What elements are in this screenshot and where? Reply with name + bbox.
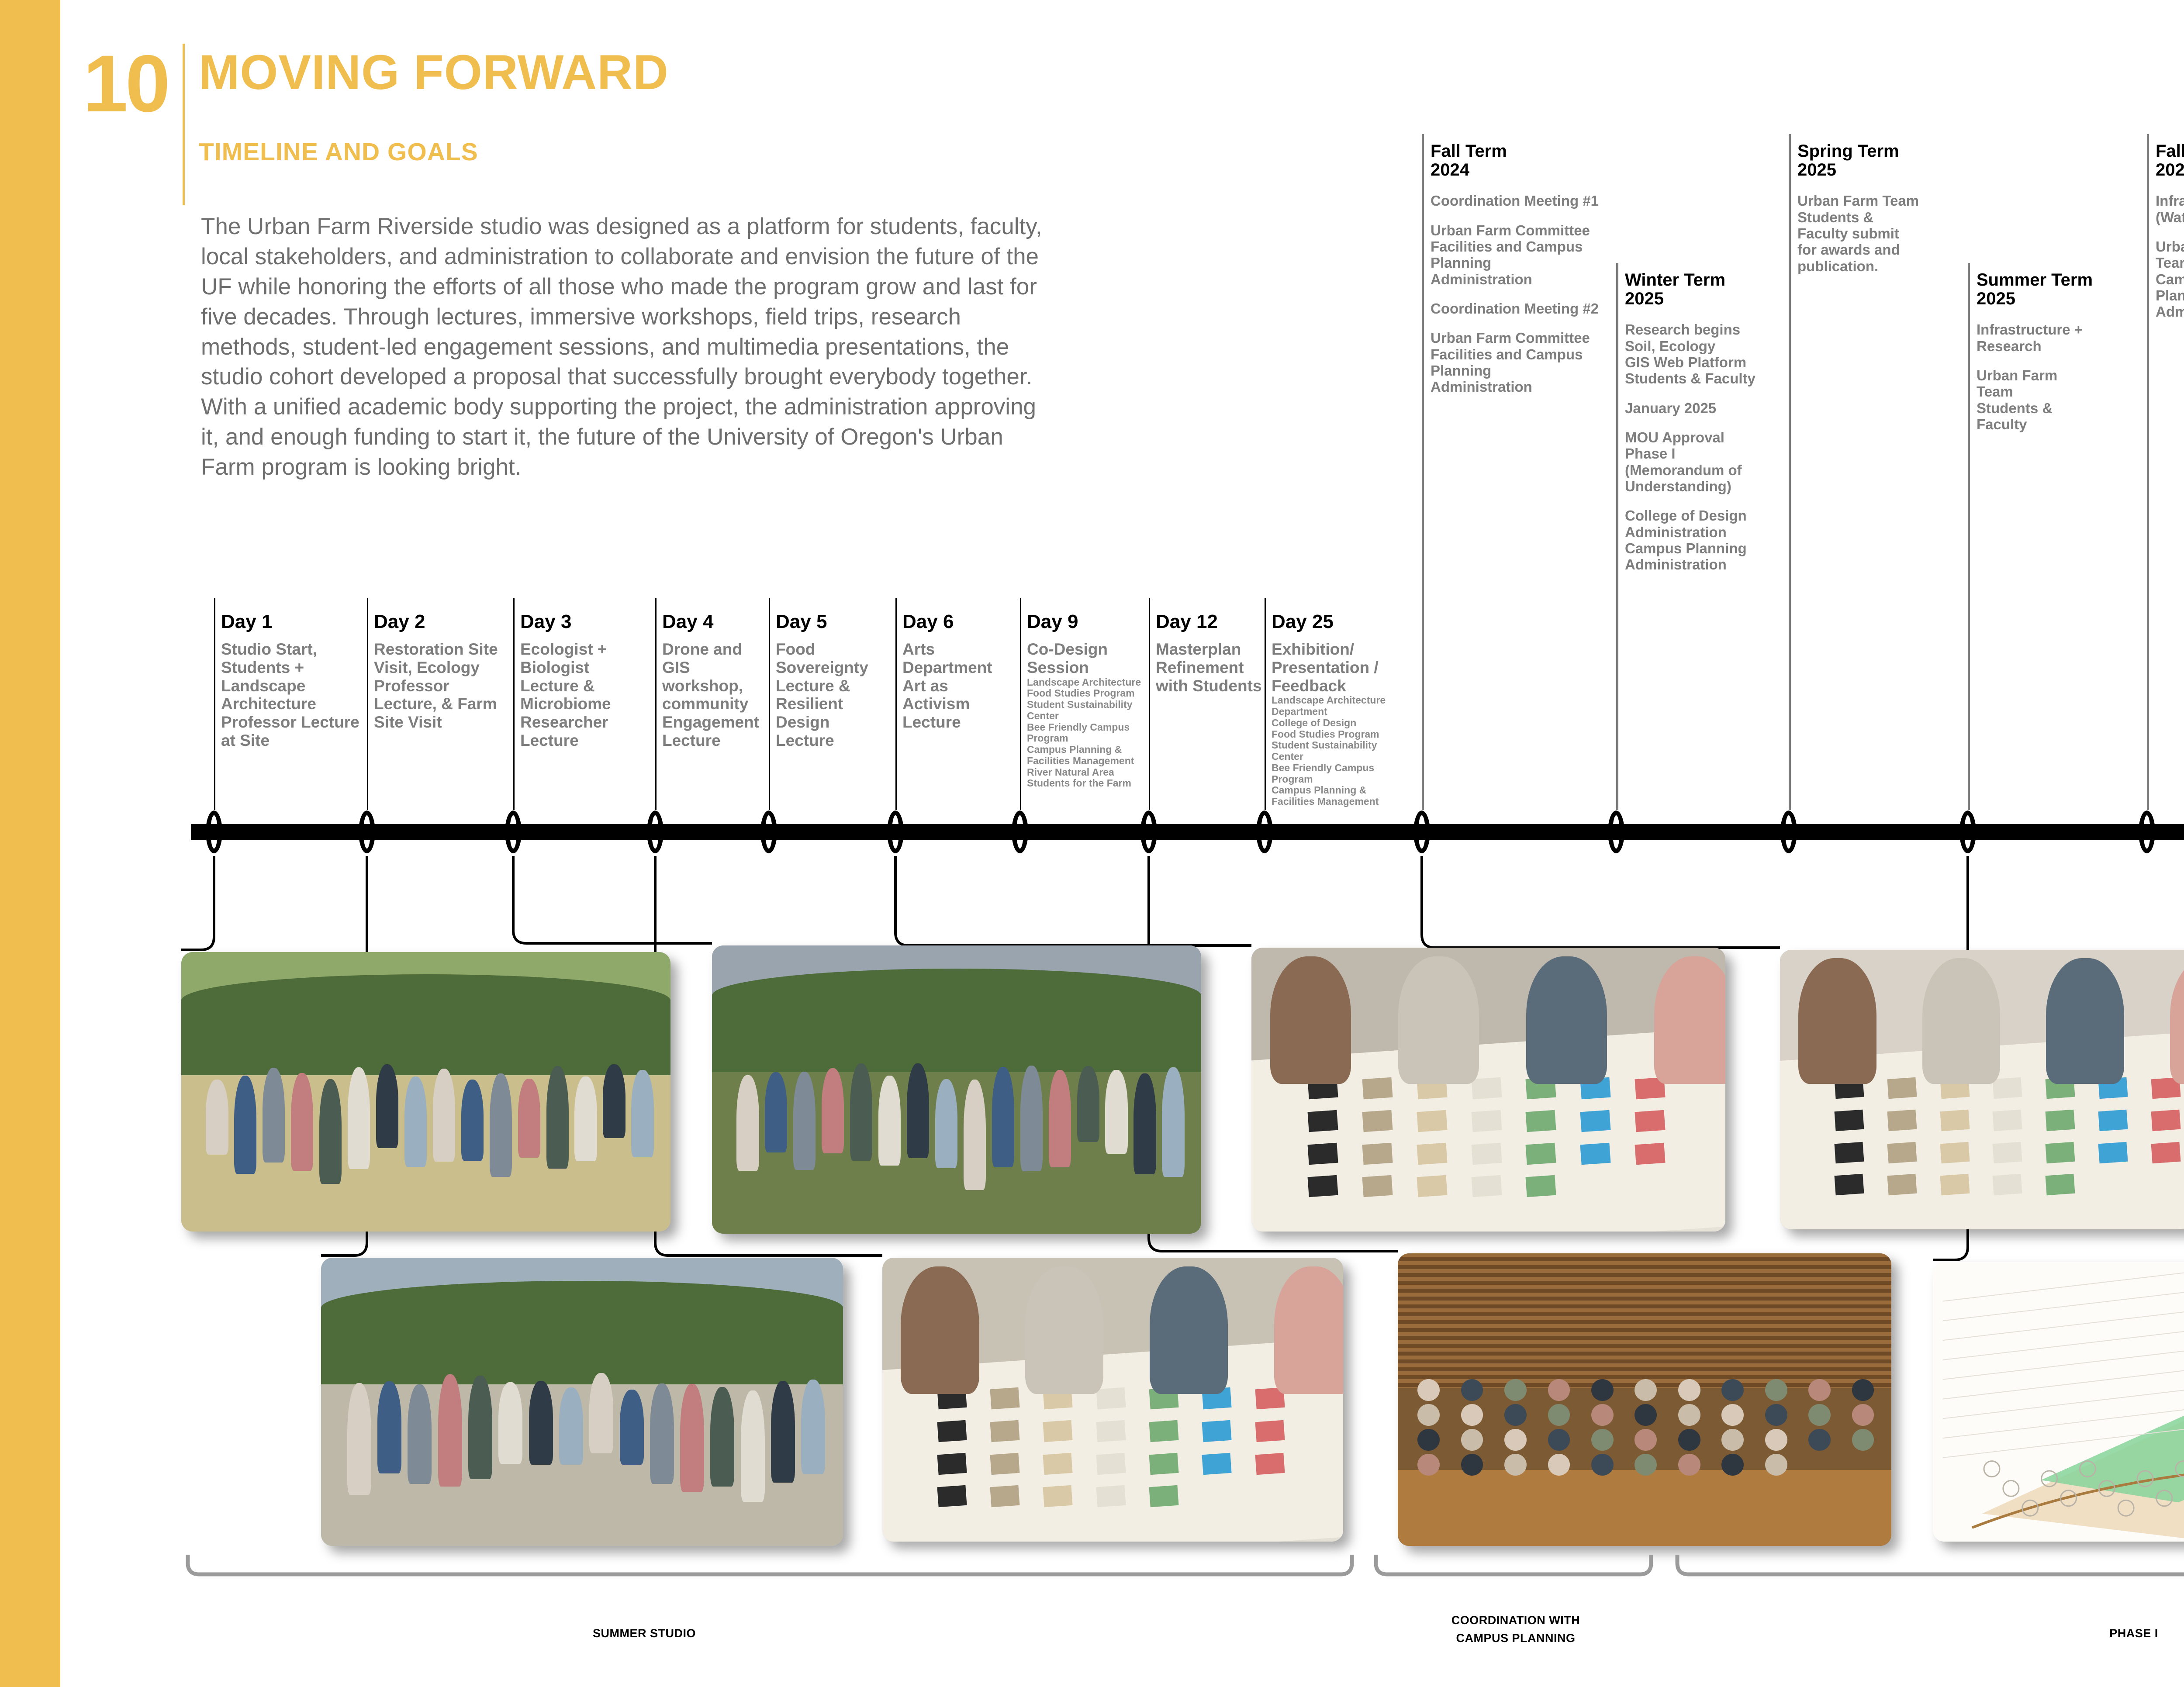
phase-bracket-label: PHASE I bbox=[1994, 1625, 2184, 1642]
timeline-axis-bar bbox=[191, 824, 2184, 840]
phase-bracket-label: COORDINATION WITHCAMPUS PLANNING bbox=[1376, 1611, 1655, 1647]
phase-bracket-label: SUMMER STUDIO bbox=[505, 1625, 784, 1642]
